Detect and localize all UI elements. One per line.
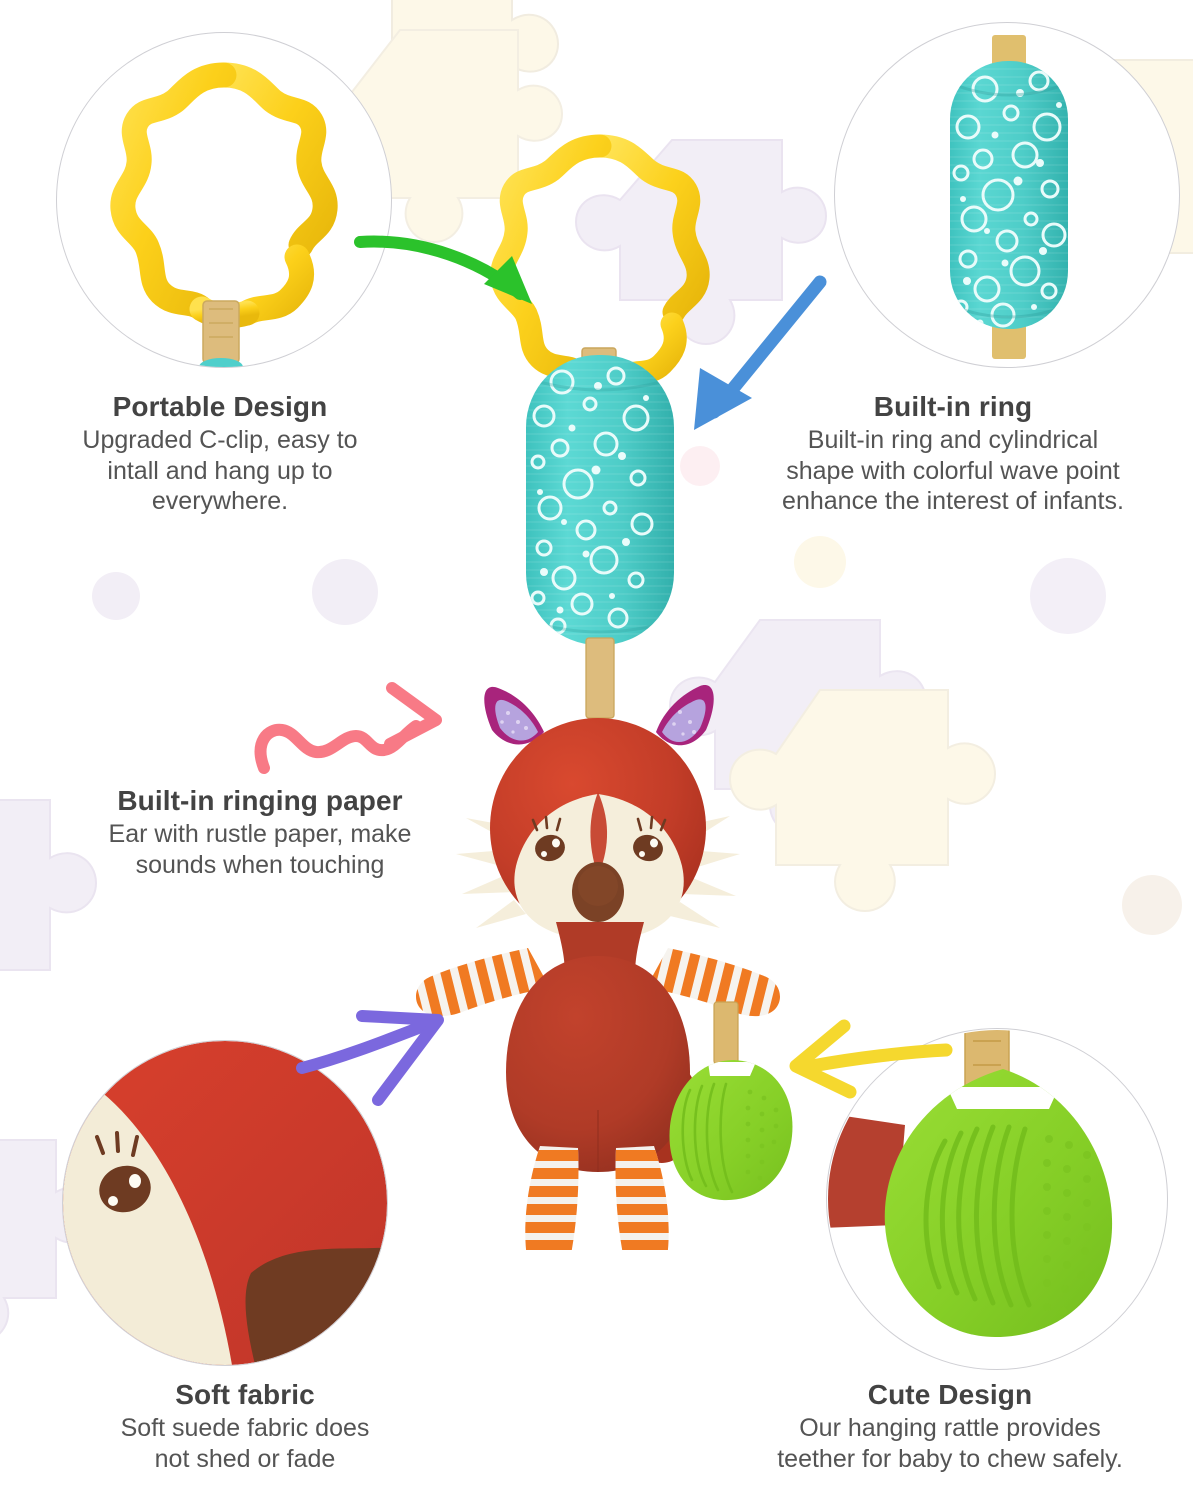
feature-title: Portable Design [10, 390, 430, 423]
blue-arrow-icon [668, 262, 848, 442]
inset-portable-design [56, 32, 392, 368]
tan-strap-lower [586, 638, 614, 718]
decorative-circle [1122, 875, 1182, 935]
feature-built-in-ringing-paper: Built-in ringing paper Ear with rustle p… [48, 784, 472, 880]
teal-cylinder-rattle-icon [835, 23, 1179, 367]
feature-portable-design: Portable Design Upgraded C-clip, easy to… [10, 390, 430, 517]
feature-body-line: Our hanging rattle provides [712, 1413, 1188, 1444]
fox-ear-right [656, 685, 714, 745]
feature-body-line: everywhere. [10, 486, 430, 517]
feature-cute-design: Cute Design Our hanging rattle provides … [712, 1378, 1188, 1474]
decorative-circle [92, 572, 140, 620]
infographic-canvas: Portable Design Upgraded C-clip, easy to… [0, 0, 1193, 1484]
feature-body-line: not shed or fade [30, 1444, 460, 1475]
feature-body-line: enhance the interest of infants. [722, 486, 1184, 517]
feature-body-line: intall and hang up to [10, 456, 430, 487]
decorative-circle [1030, 558, 1106, 634]
feature-title: Soft fabric [30, 1378, 460, 1411]
green-arrow-icon [352, 218, 582, 318]
feature-body-line: Upgraded C-clip, easy to [10, 425, 430, 456]
feature-body-line: shape with colorful wave point [722, 456, 1184, 487]
fox-ear-left [484, 687, 544, 745]
feature-title: Built-in ringing paper [48, 784, 472, 817]
tan-strap [203, 301, 239, 363]
feature-soft-fabric: Soft fabric Soft suede fabric does not s… [30, 1378, 460, 1474]
purple-arrow-icon [288, 998, 478, 1118]
teal-cylinder-rattle [526, 355, 674, 645]
yellow-arrow-icon [786, 1016, 956, 1116]
feature-title: Cute Design [712, 1378, 1188, 1411]
feature-body-line: teether for baby to chew safely. [712, 1444, 1188, 1475]
feature-body-line: sounds when touching [48, 850, 472, 881]
yellow-c-clip-ring-icon [57, 33, 391, 367]
green-leaf-teether [669, 1002, 792, 1200]
feature-body-line: Ear with rustle paper, make [48, 819, 472, 850]
feature-body-line: Soft suede fabric does [30, 1413, 460, 1444]
inset-built-in-ring [834, 22, 1180, 368]
pink-zigzag-arrow-icon [250, 658, 460, 778]
